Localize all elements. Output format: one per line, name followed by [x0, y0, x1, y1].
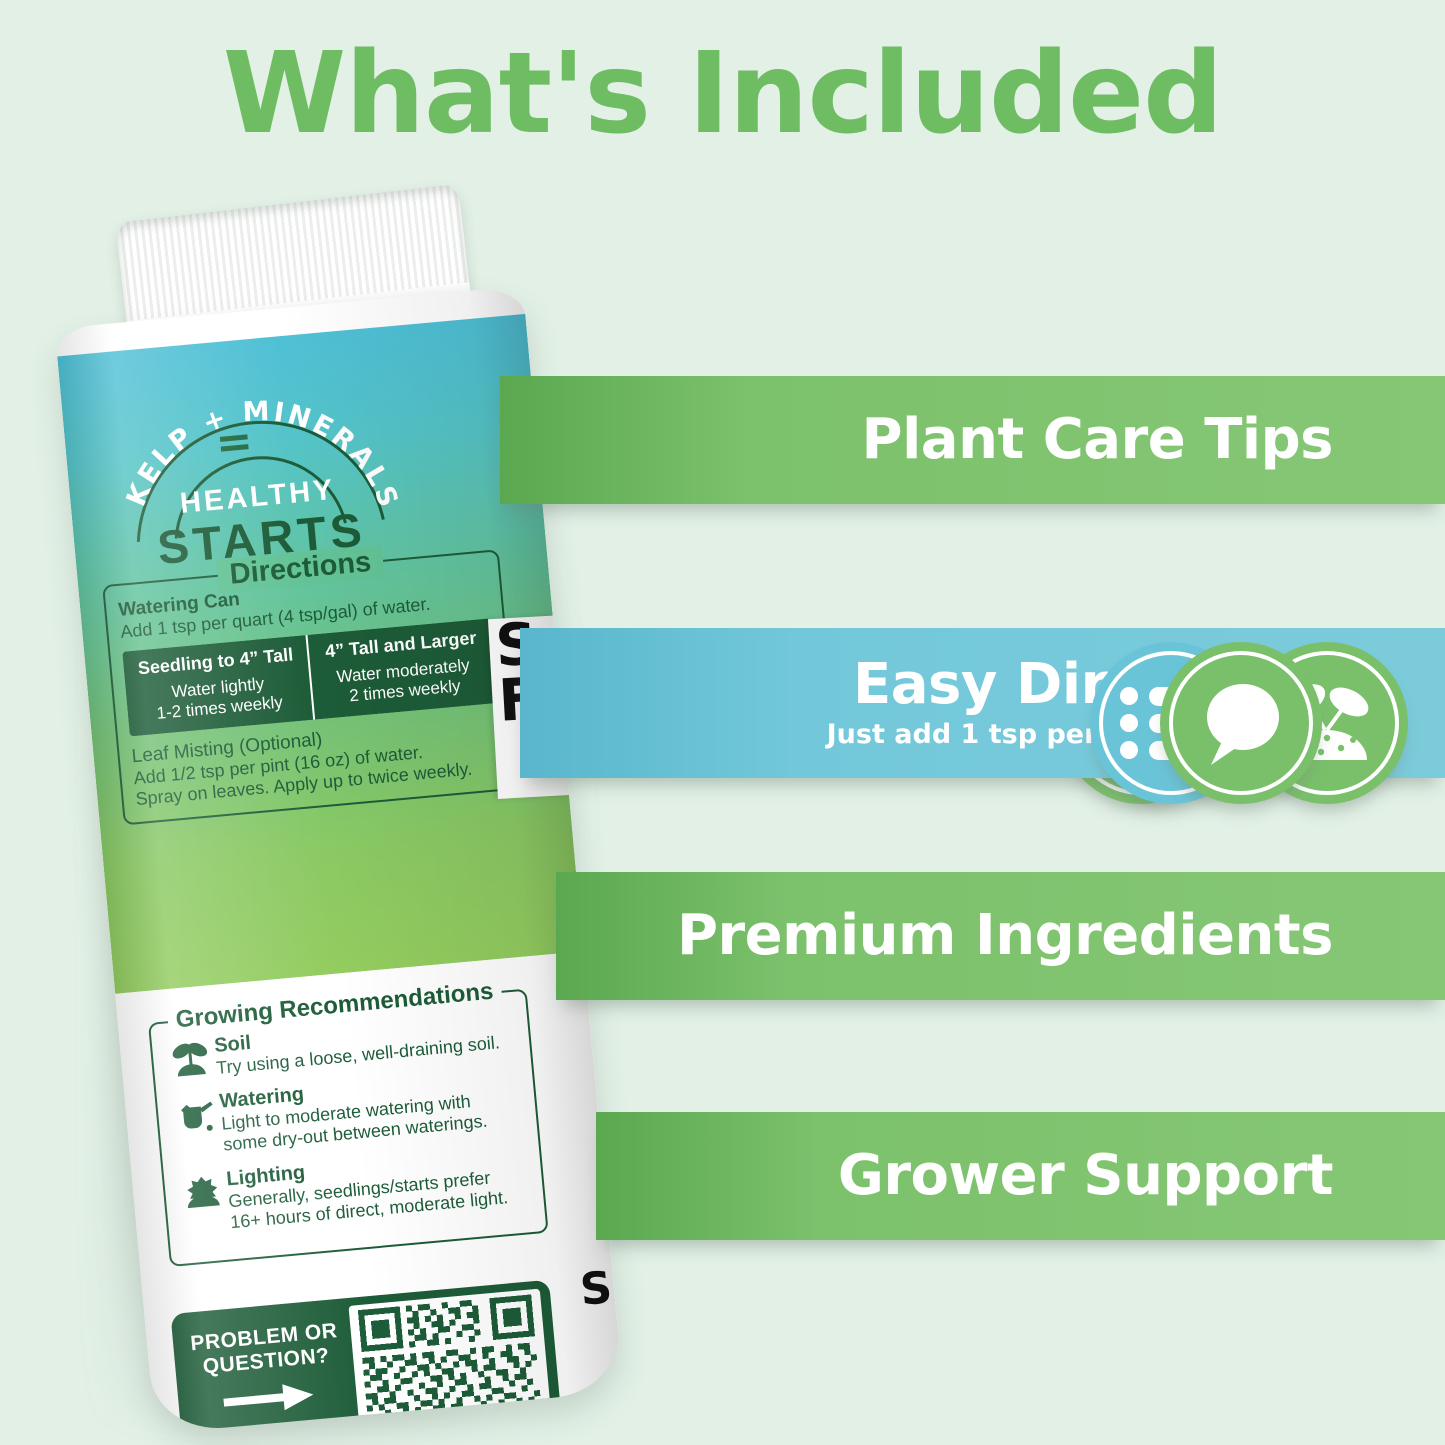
growing-recommendations-panel: Growing Recommendations Soil Try using a…	[148, 989, 549, 1268]
infographic-canvas: What's Included KELP + MINERALS	[0, 0, 1445, 1445]
feature-text: Grower Support	[838, 1148, 1445, 1204]
feature-label: Grower Support	[838, 1148, 1333, 1204]
watering-can-icon	[169, 1091, 223, 1139]
sun-icon	[176, 1168, 229, 1210]
speech-bubble-icon-circle[interactable]	[1160, 642, 1322, 804]
side-tag-lower: S	[578, 1262, 614, 1316]
feature-text: Premium Ingredients	[677, 908, 1445, 964]
kelp-minerals-badge: KELP + MINERALS = HEALTHY STARTS	[101, 348, 407, 564]
feature-bar-grower-support[interactable]: Grower Support	[596, 1112, 1445, 1240]
feature-label: Plant Care Tips	[862, 412, 1333, 468]
scan-line1: Scan to contact	[197, 1421, 348, 1434]
feature-bar-premium-ingredients[interactable]: Premium Ingredients	[556, 872, 1445, 1000]
qr-left-column: PROBLEM OR QUESTION? Scan to contact Gro…	[188, 1319, 350, 1434]
growing-text: Lighting Generally, seedlings/starts pre…	[225, 1143, 508, 1233]
product-bottle: KELP + MINERALS = HEALTHY STARTS Directi…	[96, 185, 616, 1425]
badge-equals: =	[214, 423, 254, 461]
speech-bubble-icon	[1195, 677, 1287, 769]
directions-column: Seedling to 4” Tall Water lightly 1-2 ti…	[122, 635, 313, 737]
feature-text: Plant Care Tips	[862, 412, 1445, 468]
feature-label: Premium Ingredients	[677, 908, 1333, 964]
soil-sprout-icon	[164, 1035, 218, 1081]
growing-text: Watering Light to moderate watering with…	[218, 1067, 488, 1156]
directions-panel: Directions Watering Can Add 1 tsp per qu…	[102, 549, 520, 825]
arrow-right-icon	[194, 1378, 346, 1424]
page-title: What's Included	[0, 36, 1445, 154]
feature-bar-plant-care-tips[interactable]: Plant Care Tips	[500, 376, 1445, 504]
directions-column: 4” Tall and Larger Water moderately 2 ti…	[305, 618, 498, 720]
